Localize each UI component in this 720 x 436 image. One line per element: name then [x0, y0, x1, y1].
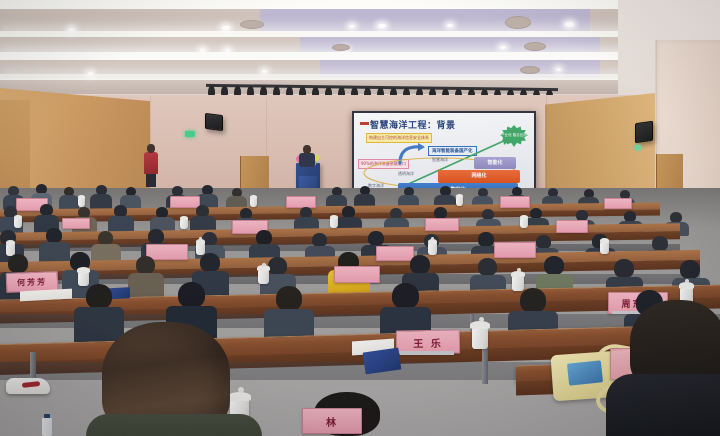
slide-bar-intelligent: 智能化 [474, 157, 516, 169]
ceiling-vent-3 [332, 44, 350, 51]
slide-label-transparent-ocean: 透明海洋 [398, 171, 414, 177]
downlight-18 [88, 72, 93, 75]
downlight-5 [349, 25, 355, 28]
wall-speaker-right [635, 121, 653, 144]
downlight-9 [225, 49, 230, 52]
downlight-8 [200, 49, 205, 52]
tote-bag-print [567, 360, 603, 385]
right-person-shoulder [606, 374, 720, 436]
ceiling-cove-purple-1 [260, 9, 590, 31]
water-bottle [42, 418, 52, 436]
nameplate-text: 林 [326, 414, 338, 429]
downlight-1 [68, 28, 75, 32]
usher-red-coat [144, 152, 158, 174]
nameplate-stand [400, 351, 454, 355]
desk-leg [482, 344, 488, 384]
lecture-hall-photo: 智慧海洋工程：背景 构建自主可控的海洋信息安全体系 90%的海洋装备依赖进口 海… [0, 0, 720, 436]
ceiling-light-strip-1 [0, 0, 720, 9]
slide-label-smart-ocean: 智慧海洋 [432, 157, 448, 163]
presenter-head [303, 145, 311, 154]
slide-bullet-marker [360, 122, 369, 125]
downlight-20 [556, 68, 561, 71]
downlight-4 [565, 22, 574, 27]
downlight-19 [262, 70, 267, 73]
exit-sign-icon [185, 131, 195, 137]
tea-mug [472, 328, 488, 349]
ceiling-light-strip-3 [0, 52, 660, 60]
exit-sign-right-icon [635, 145, 641, 150]
downlight-11 [500, 46, 506, 49]
foreground-person-right [600, 300, 720, 436]
ceiling-vent-5 [520, 66, 540, 74]
foreground-person-longhair [86, 322, 266, 436]
presenter-body [299, 153, 315, 167]
ceiling-vent-2 [505, 16, 531, 29]
ceiling-vent-4 [524, 42, 546, 51]
ceiling-vent-1 [240, 20, 264, 29]
downlight-2 [222, 26, 230, 30]
downlight-3 [378, 24, 386, 28]
nameplate-bottom: 林 [302, 408, 362, 434]
nameplate-text: 王 乐 [413, 334, 443, 350]
downlight-7 [447, 24, 453, 27]
longhair-shoulder [86, 414, 262, 436]
usher-head [147, 144, 155, 153]
wall-speaker-left [205, 113, 223, 131]
